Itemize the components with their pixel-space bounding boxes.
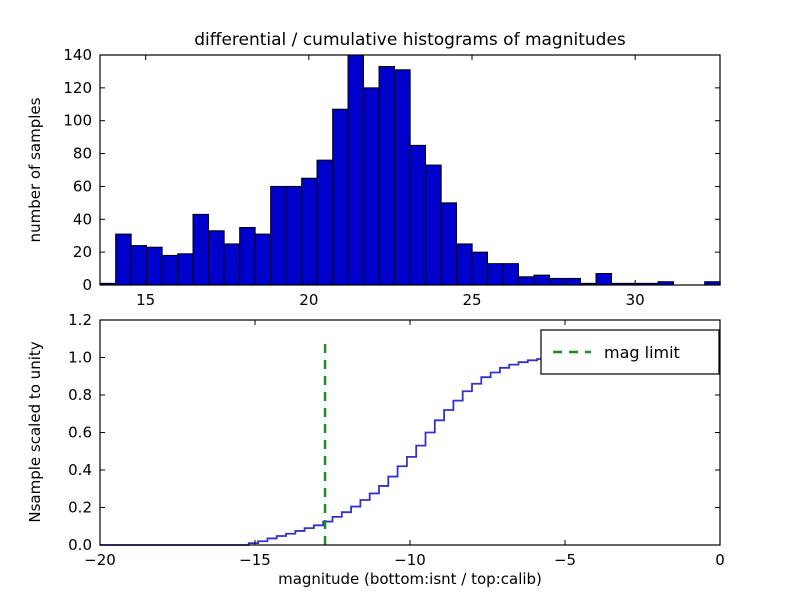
histogram-bar [131, 246, 147, 285]
histogram-bar [364, 88, 380, 285]
histogram-bar [224, 244, 240, 285]
bottom-x-axis-label: magnitude (bottom:isnt / top:calib) [278, 570, 542, 588]
histogram-bar [519, 277, 535, 285]
top-y-tick-label: 100 [63, 112, 92, 130]
histogram-bar [147, 247, 163, 285]
bottom-x-tick-label: −10 [394, 551, 426, 569]
histogram-bar [193, 214, 209, 285]
top-y-tick-label: 0 [82, 276, 92, 294]
histogram-bar [472, 252, 488, 285]
histogram-bar [441, 203, 457, 285]
bottom-x-tick-label: 0 [715, 551, 725, 569]
histogram-bar [410, 145, 426, 285]
matplotlib-figure: 15202530 020406080100120140 number of sa… [0, 0, 800, 600]
cumulative-curve [100, 358, 720, 546]
bottom-y-axis-label: Nsample scaled to unity [26, 341, 44, 522]
histogram-bar [550, 278, 566, 285]
top-x-tick-label: 30 [626, 291, 645, 309]
bottom-y-tick-label: 1.0 [68, 349, 92, 367]
histogram-bar [395, 70, 411, 285]
top-y-tick-label: 140 [63, 46, 92, 64]
histogram-bar [426, 165, 442, 285]
histogram-bar [503, 264, 519, 285]
histogram-bar [457, 244, 473, 285]
histogram-bar [333, 109, 349, 285]
bottom-axes: −20−15−10−50 0.00.20.40.60.81.01.2 Nsamp… [26, 311, 725, 588]
bottom-y-tick-label: 0.0 [68, 536, 92, 554]
cumulative-step-line [100, 358, 720, 546]
bottom-y-tick-label: 0.8 [68, 386, 92, 404]
bottom-y-tick-label: 0.6 [68, 424, 92, 442]
histogram-bar [240, 228, 256, 286]
histogram-bar [317, 160, 333, 285]
top-y-axis-label: number of samples [26, 97, 44, 242]
histogram-bar [488, 264, 504, 285]
legend-label-mag-limit: mag limit [604, 343, 680, 362]
histogram-bar [209, 231, 225, 285]
chart-title: differential / cumulative histograms of … [194, 30, 626, 50]
histogram-bar [271, 186, 287, 285]
histogram-bar [255, 234, 271, 285]
histogram-bar [116, 234, 131, 285]
bottom-y-tick-label: 0.4 [68, 461, 92, 479]
top-x-tick-label: 25 [462, 291, 481, 309]
histogram-bar [348, 55, 364, 285]
top-y-tick-label: 80 [73, 145, 92, 163]
histogram-bar [178, 254, 194, 285]
bottom-x-tick-label: −15 [239, 551, 271, 569]
bottom-y-tick-label: 0.2 [68, 499, 92, 517]
histogram-bar [565, 278, 581, 285]
legend-box[interactable]: mag limit [541, 330, 719, 374]
bottom-y-tick-label: 1.2 [68, 311, 92, 329]
top-axes: 15202530 020406080100120140 number of sa… [26, 30, 720, 309]
top-y-tick-label: 120 [63, 79, 92, 97]
histogram-bar [302, 178, 318, 285]
top-x-tick-label: 20 [299, 291, 318, 309]
figure-canvas: 15202530 020406080100120140 number of sa… [0, 0, 800, 600]
top-y-tick-label: 40 [73, 210, 92, 228]
top-y-tick-label: 20 [73, 243, 92, 261]
histogram-bar [596, 274, 612, 286]
top-y-tick-label: 60 [73, 177, 92, 195]
histogram-bar [162, 255, 178, 285]
bottom-x-tick-label: −5 [554, 551, 576, 569]
histogram-bars [100, 55, 720, 285]
histogram-bar [286, 186, 302, 285]
histogram-bar [534, 275, 550, 285]
histogram-bar [379, 67, 395, 286]
top-x-tick-label: 15 [136, 291, 155, 309]
